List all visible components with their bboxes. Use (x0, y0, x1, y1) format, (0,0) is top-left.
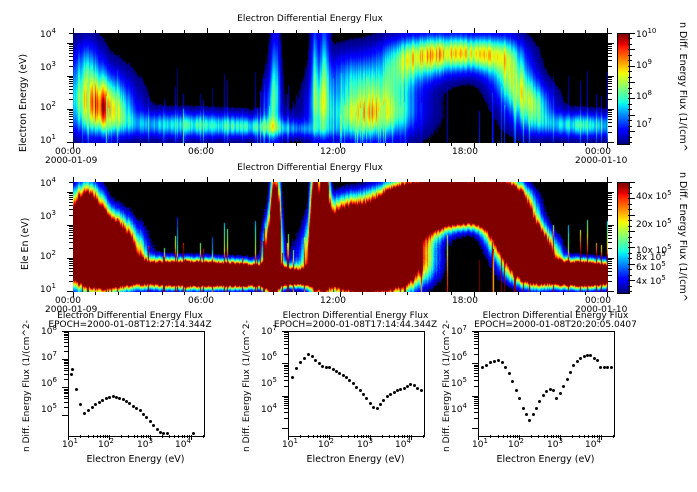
axis-tick (284, 386, 288, 387)
data-point (562, 385, 565, 388)
axis-tick (97, 435, 98, 438)
data-point (572, 364, 575, 367)
colorbar-tick (628, 275, 632, 276)
axis-tick (362, 179, 363, 182)
axis-tick (613, 435, 614, 438)
axis-tick (273, 143, 274, 146)
axis-tick (273, 179, 274, 182)
data-point (416, 387, 419, 390)
axis-tick (474, 365, 478, 366)
colorbar-tick (628, 115, 635, 116)
axis-tick (320, 435, 321, 438)
axis-tick (474, 380, 478, 381)
data-point (420, 389, 423, 392)
data-point (481, 366, 484, 369)
colorbar-tick (628, 77, 632, 78)
data-point (75, 388, 78, 391)
axis-tick (73, 28, 74, 33)
axis-tick (64, 346, 68, 347)
colorbar-tick (628, 215, 635, 216)
axis-tick (608, 242, 612, 243)
spectrum-2-xtick-2: 103 (547, 440, 563, 450)
axis-tick (608, 46, 612, 47)
axis-tick (69, 235, 73, 236)
axis-tick (69, 93, 73, 94)
colorbar-tick (628, 137, 632, 138)
axis-tick (284, 366, 288, 367)
axis-tick (282, 363, 288, 364)
axis-tick (284, 412, 288, 413)
axis-tick (363, 435, 364, 438)
spectrum-2-epoch: EPOCH=2000-01-08T20:20:05.0407 (453, 320, 658, 330)
panel1-title: Electron Differential Energy Flux (0, 14, 620, 24)
data-point (328, 366, 331, 369)
axis-tick (385, 179, 386, 182)
axis-tick (69, 193, 73, 194)
data-point (393, 391, 396, 394)
data-point (321, 365, 324, 368)
axis-tick (608, 235, 612, 236)
axis-tick (69, 116, 73, 117)
data-point (128, 402, 131, 405)
axis-tick (608, 126, 612, 127)
axis-tick (118, 143, 119, 146)
axis-tick (69, 199, 73, 200)
axis-tick (203, 435, 204, 438)
axis-tick (162, 179, 163, 182)
axis-tick (608, 232, 612, 233)
colorbar-tick (628, 209, 632, 210)
axis-tick (64, 392, 68, 393)
axis-tick (62, 415, 68, 416)
axis-tick (69, 209, 73, 210)
data-point (352, 382, 355, 385)
data-point (508, 372, 511, 375)
data-point (525, 413, 528, 416)
axis-tick (184, 292, 185, 295)
data-point (348, 379, 351, 382)
axis-tick (184, 143, 185, 146)
axis-tick (411, 435, 412, 440)
axis-tick (394, 435, 395, 438)
panel1-spectrogram[interactable] (73, 33, 608, 143)
axis-tick (553, 435, 554, 438)
axis-tick (69, 132, 73, 133)
axis-tick (608, 112, 612, 113)
panel1-cbar-tick-1: 109 (636, 61, 652, 71)
data-point (589, 354, 592, 357)
axis-tick (128, 435, 129, 438)
axis-tick (178, 435, 179, 438)
axis-tick (64, 365, 68, 366)
axis-tick (340, 143, 341, 148)
colorbar-tick (628, 66, 635, 67)
axis-tick (503, 435, 504, 438)
axis-tick (608, 265, 612, 266)
axis-tick (474, 344, 478, 345)
axis-tick (607, 292, 608, 297)
axis-tick (288, 435, 289, 440)
axis-tick (518, 143, 519, 146)
spectrum-1-xtick-1: 102 (318, 440, 334, 450)
data-point (135, 407, 138, 410)
axis-tick (474, 403, 478, 404)
colorbar-tick (628, 82, 635, 83)
spectrum-0-xtick-2: 103 (137, 440, 153, 450)
panel2-cbar-tick-5: 4x 105 (636, 277, 666, 287)
axis-tick (284, 344, 288, 345)
data-point (291, 376, 294, 379)
axis-tick (608, 261, 612, 262)
axis-tick (229, 143, 230, 146)
data-point (579, 357, 582, 360)
axis-tick (608, 76, 614, 77)
axis-tick (608, 230, 612, 231)
axis-tick (510, 435, 511, 438)
axis-tick (385, 292, 386, 295)
data-point (365, 397, 368, 400)
colorbar-tick (628, 38, 632, 39)
spectrum-1-xlabel: Electron Energy (eV) (288, 454, 423, 465)
data-point (145, 416, 148, 419)
panel2-cbar-tick-4: 6x 105 (636, 263, 666, 273)
panel2-title: Electron Differential Energy Flux (0, 163, 620, 173)
axis-tick (162, 435, 163, 438)
axis-tick (608, 114, 612, 115)
spectrum-0-ylabel: n Diff. Energy Flux (1/(cm^2- (22, 320, 32, 452)
axis-tick (340, 177, 341, 182)
colorbar-tick (628, 204, 632, 205)
axis-tick (69, 119, 73, 120)
axis-tick (62, 331, 68, 332)
panel1-xtick-2: 12:00 (320, 147, 346, 157)
axis-tick (64, 402, 68, 403)
axis-tick (451, 30, 452, 33)
axis-tick (563, 30, 564, 33)
colorbar-tick (628, 88, 632, 89)
axis-tick (69, 50, 73, 51)
colorbar-tick (628, 187, 632, 188)
axis-tick (608, 132, 612, 133)
axis-tick (362, 143, 363, 146)
axis-tick (538, 435, 539, 438)
axis-tick (317, 435, 318, 438)
panel1-ytick-2: 102 (40, 103, 56, 113)
axis-tick (474, 405, 478, 406)
axis-tick (67, 109, 73, 110)
axis-tick (105, 435, 106, 438)
axis-tick (118, 179, 119, 182)
axis-tick (402, 435, 403, 438)
axis-tick (64, 396, 68, 397)
axis-tick (362, 292, 363, 295)
axis-tick (608, 93, 612, 94)
axis-tick (451, 292, 452, 295)
axis-tick (64, 374, 68, 375)
axis-tick (64, 337, 68, 338)
axis-tick (69, 182, 73, 183)
axis-tick (148, 435, 149, 438)
axis-tick (451, 179, 452, 182)
axis-tick (608, 275, 612, 276)
axis-tick (340, 292, 341, 297)
panel2-spectrogram[interactable] (73, 182, 608, 292)
axis-tick (558, 435, 559, 438)
axis-tick (474, 28, 475, 33)
axis-tick (284, 368, 288, 369)
axis-tick (146, 435, 147, 438)
axis-tick (69, 89, 73, 90)
axis-tick (109, 435, 110, 440)
axis-tick (608, 202, 612, 203)
axis-tick (592, 435, 593, 438)
axis-tick (472, 428, 478, 429)
axis-tick (608, 258, 614, 259)
axis-tick (599, 435, 600, 438)
panel2-ytick-0: 104 (40, 179, 56, 189)
axis-tick (284, 401, 288, 402)
axis-tick (67, 142, 73, 143)
data-point (307, 353, 310, 356)
axis-tick (64, 370, 68, 371)
axis-tick (474, 399, 478, 400)
axis-tick (547, 435, 548, 438)
panel1-xtick-1: 06:00 (188, 147, 214, 157)
axis-tick (608, 48, 612, 49)
axis-tick (318, 143, 319, 146)
axis-tick (354, 435, 355, 438)
axis-tick (588, 435, 589, 438)
axis-tick (507, 435, 508, 438)
data-point (399, 388, 402, 391)
axis-tick (229, 30, 230, 33)
data-point (382, 399, 385, 402)
axis-tick (284, 348, 288, 349)
axis-tick (608, 83, 612, 84)
axis-tick (73, 177, 74, 182)
spectrum-2-ytick-0: 107 (451, 327, 467, 337)
axis-tick (429, 143, 430, 146)
axis-tick (608, 109, 614, 110)
axis-tick (69, 268, 73, 269)
axis-tick (284, 370, 288, 371)
axis-tick (608, 89, 612, 90)
data-point (192, 432, 195, 435)
axis-tick (68, 435, 69, 440)
axis-tick (162, 292, 163, 295)
axis-tick (182, 435, 183, 438)
axis-tick (370, 435, 371, 440)
panel2-cbar-tick-1: 20x 105 (636, 220, 672, 230)
colorbar-tick (628, 220, 632, 221)
axis-tick (95, 30, 96, 33)
axis-tick (341, 435, 342, 438)
axis-tick (189, 435, 190, 438)
axis-tick (474, 336, 478, 337)
data-point (79, 403, 82, 406)
axis-tick (64, 339, 68, 340)
data-point (379, 403, 382, 406)
axis-tick (284, 365, 288, 366)
axis-tick (608, 228, 612, 229)
spectrum-0-plot[interactable] (68, 331, 205, 437)
data-point (101, 399, 104, 402)
axis-tick (585, 143, 586, 146)
data-point (338, 372, 341, 375)
data-point (98, 401, 101, 404)
axis-tick (474, 354, 478, 355)
axis-tick (608, 291, 614, 292)
axis-tick (474, 177, 475, 182)
colorbar-tick (628, 226, 632, 227)
data-point (139, 409, 142, 412)
data-point (522, 407, 525, 410)
colorbar-tick (628, 253, 632, 254)
data-point (149, 420, 152, 423)
axis-tick (597, 435, 598, 438)
axis-tick (73, 292, 74, 297)
axis-tick (69, 281, 73, 282)
axis-tick (184, 30, 185, 33)
data-point (295, 367, 298, 370)
data-point (566, 378, 569, 381)
axis-tick (608, 66, 612, 67)
axis-tick (398, 435, 399, 438)
data-point (70, 373, 73, 376)
axis-tick (69, 33, 73, 34)
colorbar-tick (628, 33, 635, 34)
axis-tick (69, 242, 73, 243)
axis-tick (472, 331, 478, 332)
axis-tick (69, 226, 73, 227)
colorbar-tick (628, 269, 632, 270)
data-point (545, 390, 548, 393)
data-point (386, 395, 389, 398)
spectrum-2-ytick-2: 105 (451, 379, 467, 389)
axis-tick (64, 368, 68, 369)
axis-tick (69, 271, 73, 272)
axis-tick (608, 53, 612, 54)
axis-tick (429, 30, 430, 33)
axis-tick (134, 435, 135, 438)
axis-tick (64, 393, 68, 394)
axis-tick (103, 435, 104, 438)
spectrum-1-ytick-2: 105 (261, 379, 277, 389)
axis-tick (318, 179, 319, 182)
colorbar-tick (628, 242, 632, 243)
axis-tick (284, 332, 288, 333)
data-point (359, 389, 362, 392)
axis-tick (282, 428, 288, 429)
axis-tick (64, 379, 68, 380)
colorbar-tick (628, 104, 632, 105)
spectrum-0-ytick-0: 108 (41, 327, 57, 337)
axis-tick (608, 197, 612, 198)
colorbar-tick (628, 198, 635, 199)
axis-tick (608, 56, 612, 57)
axis-tick (608, 259, 612, 260)
axis-tick (608, 122, 612, 123)
axis-tick (563, 179, 564, 182)
panel2-xtick-2: 12:00 (320, 296, 346, 306)
spectrum-1-plot[interactable] (288, 331, 425, 437)
colorbar-tick (628, 258, 632, 259)
axis-tick (409, 435, 410, 438)
data-point (518, 397, 521, 400)
axis-tick (69, 66, 73, 67)
axis-tick (62, 387, 68, 388)
panel1-ylabel: Electron Energy (eV) (18, 54, 29, 152)
panel2-cbar-label: n Diff. Energy Flux (1/(cm^ (677, 172, 688, 302)
axis-tick (118, 292, 119, 295)
panel2-xtick-3: 18:00 (452, 296, 478, 306)
panel2-ytick-1: 103 (40, 212, 56, 222)
panel1-xtick-3: 18:00 (452, 147, 478, 157)
data-point (314, 359, 317, 362)
axis-tick (73, 143, 74, 148)
axis-tick (585, 292, 586, 295)
axis-tick (69, 205, 73, 206)
data-point (376, 407, 379, 410)
spectrum-1-xtick-3: 104 (395, 440, 411, 450)
axis-tick (69, 202, 73, 203)
axis-tick (284, 341, 288, 342)
axis-tick (608, 248, 612, 249)
axis-tick (284, 373, 288, 374)
axis-tick (95, 179, 96, 182)
data-point (538, 400, 541, 403)
axis-tick (69, 265, 73, 266)
spectrum-2-ytick-3: 104 (451, 405, 467, 415)
axis-tick (284, 336, 288, 337)
data-point (576, 360, 579, 363)
colorbar-tick (628, 131, 635, 132)
axis-tick (608, 99, 612, 100)
axis-tick (296, 292, 297, 295)
colorbar-tick (628, 44, 632, 45)
data-point (606, 366, 609, 369)
axis-tick (64, 362, 68, 363)
axis-tick (540, 179, 541, 182)
axis-tick (64, 407, 68, 408)
colorbar-tick (628, 120, 632, 121)
axis-tick (64, 332, 68, 333)
axis-tick (474, 143, 475, 148)
axis-tick (531, 435, 532, 438)
axis-tick (601, 435, 602, 440)
axis-tick (429, 292, 430, 295)
colorbar-tick (628, 247, 635, 248)
axis-tick (140, 30, 141, 33)
spectrum-2-ytick-1: 106 (451, 353, 467, 363)
axis-tick (69, 230, 73, 231)
axis-tick (474, 397, 478, 398)
spectrum-0-xlabel: Electron Energy (eV) (68, 454, 203, 465)
spectrum-2-plot[interactable] (478, 331, 615, 437)
colorbar-tick (628, 49, 635, 50)
axis-tick (229, 292, 230, 295)
data-point (569, 371, 572, 374)
axis-tick (348, 435, 349, 438)
spectrum-1-epoch: EPOCH=2000-01-08T17:14:44.344Z (253, 320, 458, 330)
axis-tick (174, 435, 175, 438)
data-point (166, 432, 169, 435)
data-point (485, 364, 488, 367)
axis-tick (608, 182, 612, 183)
data-point (528, 419, 531, 422)
axis-tick (608, 205, 612, 206)
colorbar-tick (628, 291, 632, 292)
